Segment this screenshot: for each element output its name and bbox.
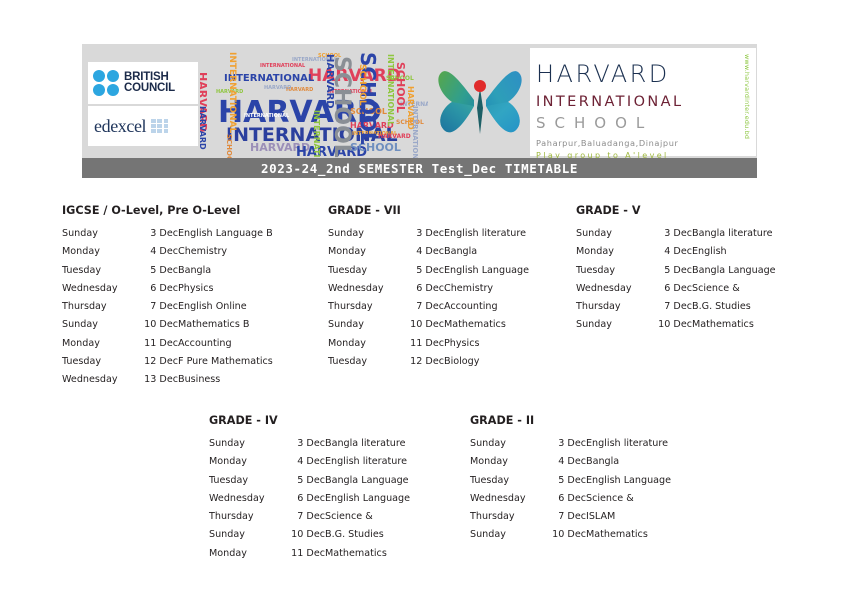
- table-row: Sunday3 DecBangla literature: [576, 228, 776, 246]
- table-row: Tuesday5 DecBangla Language: [576, 265, 776, 283]
- schedule-table: Sunday3 DecEnglish literatureMonday4 Dec…: [470, 438, 671, 548]
- cell-day: Sunday: [328, 319, 400, 337]
- cell-subject: Bangla Language: [692, 265, 776, 283]
- cell-day: Monday: [328, 338, 400, 356]
- cell-day: Tuesday: [62, 356, 134, 374]
- table-row: Tuesday5 DecBangla Language: [209, 475, 410, 493]
- wordcloud-term: INTERNATIONAL: [312, 110, 320, 158]
- cell-subject: Bangla: [586, 456, 671, 474]
- cell-day: Thursday: [470, 511, 542, 529]
- table-row: Sunday3 DecEnglish literature: [470, 438, 671, 456]
- schedule-table: Sunday3 DecBangla literatureMonday4 DecE…: [576, 228, 776, 338]
- cell-day: Sunday: [470, 438, 542, 456]
- schedule-table: Sunday3 DecEnglish literatureMonday4 Dec…: [328, 228, 529, 374]
- cell-subject: ISLAM: [586, 511, 671, 529]
- table-row: Tuesday5 DecBangla: [62, 265, 273, 283]
- cell-subject: B.G. Studies: [325, 529, 410, 547]
- cell-subject: Science &: [325, 511, 410, 529]
- wordcloud-term: INTERNATIONAL: [411, 106, 418, 158]
- cell-day: Sunday: [62, 228, 134, 246]
- cell-subject: English literature: [586, 438, 671, 456]
- cell-date: 5 Dec: [281, 475, 325, 493]
- cell-date: 3 Dec: [400, 228, 444, 246]
- cell-date: 4 Dec: [400, 246, 444, 264]
- cell-day: Wednesday: [62, 374, 134, 392]
- school-tagline: Play group to A'level: [536, 151, 744, 158]
- cell-day: Monday: [62, 338, 134, 356]
- cell-subject: Science &: [692, 283, 776, 301]
- cell-subject: English: [692, 246, 776, 264]
- wordcloud-term: HARVARD: [264, 86, 291, 91]
- cell-date: 7 Dec: [542, 511, 586, 529]
- wordcloud-term: SCHOOL: [395, 62, 406, 113]
- cell-day: Monday: [209, 548, 281, 566]
- cell-subject: Mathematics: [444, 319, 529, 337]
- table-row: Sunday3 DecEnglish Language B: [62, 228, 273, 246]
- table-row: Monday11 DecMathematics: [209, 548, 410, 566]
- schedule-block-title: GRADE - IV: [209, 414, 410, 427]
- cell-date: 6 Dec: [542, 493, 586, 511]
- cell-subject: Chemistry: [178, 246, 273, 264]
- cell-day: Wednesday: [328, 283, 400, 301]
- british-council-label: BRITISH COUNCIL: [124, 72, 175, 95]
- table-row: Sunday3 DecEnglish literature: [328, 228, 529, 246]
- table-row: Sunday10 DecMathematics: [576, 319, 776, 337]
- school-name-school: SCHOOL: [536, 114, 744, 132]
- cell-subject: Business: [178, 374, 273, 392]
- cell-date: 4 Dec: [542, 456, 586, 474]
- school-wordmark: HARVARD INTERNATIONAL SCHOOL Paharpur,Ba…: [530, 48, 744, 156]
- cell-subject: Mathematics: [692, 319, 776, 337]
- table-row: Wednesday6 DecChemistry: [328, 283, 529, 301]
- cell-subject: English Language B: [178, 228, 273, 246]
- cell-day: Tuesday: [470, 475, 542, 493]
- cell-date: 4 Dec: [134, 246, 178, 264]
- table-row: Sunday10 DecB.G. Studies: [209, 529, 410, 547]
- cell-date: 10 Dec: [648, 319, 692, 337]
- cell-date: 10 Dec: [542, 529, 586, 547]
- schedule-table: Sunday3 DecEnglish Language BMonday4 Dec…: [62, 228, 273, 393]
- table-row: Wednesday6 DecScience &: [470, 493, 671, 511]
- cell-date: 5 Dec: [134, 265, 178, 283]
- edexcel-logo: edexcel: [88, 106, 198, 146]
- edexcel-grid-icon: [151, 119, 168, 133]
- cell-subject: Bangla: [178, 265, 273, 283]
- banner-graphic-area: BRITISH COUNCIL edexcel HARVARDINTERNATI…: [82, 44, 757, 158]
- edexcel-label: edexcel: [94, 116, 146, 137]
- schedule-block-grade7: GRADE - VII Sunday3 DecEnglish literatur…: [328, 204, 529, 374]
- cell-day: Sunday: [576, 228, 648, 246]
- cell-date: 10 Dec: [134, 319, 178, 337]
- cell-date: 6 Dec: [648, 283, 692, 301]
- cell-date: 7 Dec: [648, 301, 692, 319]
- cell-day: Sunday: [62, 319, 134, 337]
- table-row: Wednesday6 DecPhysics: [62, 283, 273, 301]
- cell-date: 5 Dec: [400, 265, 444, 283]
- cell-day: Thursday: [209, 511, 281, 529]
- wordcloud-term: INTERNATIONAL: [227, 52, 236, 133]
- cell-date: 6 Dec: [281, 493, 325, 511]
- schedule-block-igcse: IGCSE / O-Level, Pre O-Level Sunday3 Dec…: [62, 204, 273, 393]
- table-row: Tuesday5 DecEnglish Language: [328, 265, 529, 283]
- table-row: Thursday7 DecAccounting: [328, 301, 529, 319]
- cell-day: Monday: [62, 246, 134, 264]
- table-row: Thursday7 DecB.G. Studies: [576, 301, 776, 319]
- butterfly-svg: [428, 48, 532, 156]
- table-row: Tuesday5 DecEnglish Language: [470, 475, 671, 493]
- cell-subject: English Online: [178, 301, 273, 319]
- cell-date: 7 Dec: [281, 511, 325, 529]
- cell-date: 10 Dec: [400, 319, 444, 337]
- wordcloud-term: SCHOOL: [357, 64, 366, 106]
- cell-date: 6 Dec: [134, 283, 178, 301]
- table-row: Sunday10 DecMathematics: [328, 319, 529, 337]
- school-website-strip: www.harvardinter.edu.bd: [740, 48, 756, 156]
- cell-date: 6 Dec: [400, 283, 444, 301]
- wordcloud-term: INTERNATIONAL: [244, 114, 289, 119]
- cell-day: Tuesday: [576, 265, 648, 283]
- table-row: Monday4 DecChemistry: [62, 246, 273, 264]
- cell-subject: Physics: [178, 283, 273, 301]
- cell-date: 11 Dec: [281, 548, 325, 566]
- schedule-block-grade5: GRADE - V Sunday3 DecBangla literatureMo…: [576, 204, 776, 338]
- cell-date: 3 Dec: [542, 438, 586, 456]
- cell-day: Sunday: [576, 319, 648, 337]
- header-banner: BRITISH COUNCIL edexcel HARVARDINTERNATI…: [82, 44, 757, 178]
- schedule-block-grade2: GRADE - II Sunday3 DecEnglish literature…: [470, 414, 671, 548]
- wordcloud-term: INTERNATIONAL: [386, 54, 394, 126]
- cell-date: 3 Dec: [648, 228, 692, 246]
- cell-subject: English Language: [586, 475, 671, 493]
- wordcloud-term: HARVARD: [378, 134, 411, 140]
- cell-date: 3 Dec: [134, 228, 178, 246]
- schedule-table: Sunday3 DecBangla literatureMonday4 DecE…: [209, 438, 410, 566]
- cell-subject: Mathematics: [325, 548, 410, 566]
- cell-subject: Science &: [586, 493, 671, 511]
- school-name-harvard: HARVARD: [536, 60, 744, 88]
- cell-day: Thursday: [328, 301, 400, 319]
- british-council-dots-icon: [93, 70, 119, 96]
- cell-subject: F Pure Mathematics: [178, 356, 273, 374]
- butterfly-logo-icon: [428, 48, 532, 156]
- cell-subject: Accounting: [444, 301, 529, 319]
- cell-date: 11 Dec: [134, 338, 178, 356]
- cell-subject: Bangla Language: [325, 475, 410, 493]
- cell-day: Wednesday: [470, 493, 542, 511]
- cell-subject: Physics: [444, 338, 529, 356]
- cell-subject: Biology: [444, 356, 529, 374]
- cell-day: Thursday: [576, 301, 648, 319]
- cell-day: Sunday: [209, 529, 281, 547]
- cell-subject: Bangla literature: [692, 228, 776, 246]
- cell-day: Tuesday: [328, 356, 400, 374]
- school-name-international: INTERNATIONAL: [536, 94, 744, 110]
- timetable-title-bar: 2023-24_2nd SEMESTER Test_Dec TIMETABLE: [82, 158, 757, 178]
- cell-day: Sunday: [470, 529, 542, 547]
- table-row: Tuesday12 DecBiology: [328, 356, 529, 374]
- cell-day: Sunday: [209, 438, 281, 456]
- table-row: Thursday7 DecEnglish Online: [62, 301, 273, 319]
- schedule-block-title: GRADE - V: [576, 204, 776, 217]
- cell-day: Wednesday: [576, 283, 648, 301]
- cell-date: 11 Dec: [400, 338, 444, 356]
- harvard-wordcloud-graphic: HARVARDINTERNATIONALHARVARDINTERNATIONAL…: [200, 46, 428, 158]
- british-council-logo: BRITISH COUNCIL: [88, 62, 198, 104]
- schedule-block-grade4: GRADE - IV Sunday3 DecBangla literatureM…: [209, 414, 410, 566]
- cell-subject: Mathematics B: [178, 319, 273, 337]
- schedule-block-title: IGCSE / O-Level, Pre O-Level: [62, 204, 273, 217]
- cell-subject: Chemistry: [444, 283, 529, 301]
- cell-day: Monday: [328, 246, 400, 264]
- cell-day: Monday: [470, 456, 542, 474]
- table-row: Monday4 DecBangla: [328, 246, 529, 264]
- cell-day: Tuesday: [62, 265, 134, 283]
- table-row: Sunday3 DecBangla literature: [209, 438, 410, 456]
- cell-subject: B.G. Studies: [692, 301, 776, 319]
- page-title: 2023-24_2nd SEMESTER Test_Dec TIMETABLE: [261, 161, 578, 176]
- cell-date: 12 Dec: [400, 356, 444, 374]
- cell-date: 5 Dec: [648, 265, 692, 283]
- schedule-block-title: GRADE - II: [470, 414, 671, 427]
- cell-date: 4 Dec: [648, 246, 692, 264]
- table-row: Thursday7 DecISLAM: [470, 511, 671, 529]
- cell-day: Monday: [576, 246, 648, 264]
- cell-subject: Bangla: [444, 246, 529, 264]
- wordcloud-term: INTERNATIONAL: [224, 74, 314, 84]
- cell-date: 13 Dec: [134, 374, 178, 392]
- cell-date: 10 Dec: [281, 529, 325, 547]
- cell-subject: Bangla literature: [325, 438, 410, 456]
- cell-date: 3 Dec: [281, 438, 325, 456]
- table-row: Monday4 DecEnglish: [576, 246, 776, 264]
- wordcloud-term: HARVARD: [324, 54, 334, 109]
- cell-date: 7 Dec: [400, 301, 444, 319]
- cell-day: Tuesday: [328, 265, 400, 283]
- cell-day: Monday: [209, 456, 281, 474]
- wordcloud-term: SCHOOL: [225, 134, 232, 158]
- table-row: Monday4 DecEnglish literature: [209, 456, 410, 474]
- cell-subject: English literature: [444, 228, 529, 246]
- cell-subject: Mathematics: [586, 529, 671, 547]
- cell-date: 5 Dec: [542, 475, 586, 493]
- table-row: Sunday10 DecMathematics: [470, 529, 671, 547]
- table-row: Monday11 DecPhysics: [328, 338, 529, 356]
- cell-date: 7 Dec: [134, 301, 178, 319]
- table-row: Monday4 DecBangla: [470, 456, 671, 474]
- british-council-line2: COUNCIL: [124, 83, 175, 95]
- cell-day: Wednesday: [209, 493, 281, 511]
- wordcloud-term: INTERNATIONAL: [260, 64, 305, 69]
- school-address: Paharpur,Baluadanga,Dinajpur: [536, 138, 744, 148]
- cell-day: Sunday: [328, 228, 400, 246]
- cell-subject: English Language: [444, 265, 529, 283]
- wordcloud-term: HARVARD: [200, 106, 206, 150]
- cell-subject: Accounting: [178, 338, 273, 356]
- table-row: Wednesday13 DecBusiness: [62, 374, 273, 392]
- schedule-block-title: GRADE - VII: [328, 204, 529, 217]
- table-row: Tuesday12 DecF Pure Mathematics: [62, 356, 273, 374]
- cell-subject: English literature: [325, 456, 410, 474]
- table-row: Wednesday6 DecEnglish Language: [209, 493, 410, 511]
- table-row: Monday11 DecAccounting: [62, 338, 273, 356]
- cell-date: 12 Dec: [134, 356, 178, 374]
- table-row: Wednesday6 DecScience &: [576, 283, 776, 301]
- cell-subject: English Language: [325, 493, 410, 511]
- cell-day: Wednesday: [62, 283, 134, 301]
- table-row: Thursday7 DecScience &: [209, 511, 410, 529]
- school-website-text: www.harvardinter.edu.bd: [743, 54, 751, 139]
- cell-day: Thursday: [62, 301, 134, 319]
- table-row: Sunday10 DecMathematics B: [62, 319, 273, 337]
- cell-day: Tuesday: [209, 475, 281, 493]
- cell-date: 4 Dec: [281, 456, 325, 474]
